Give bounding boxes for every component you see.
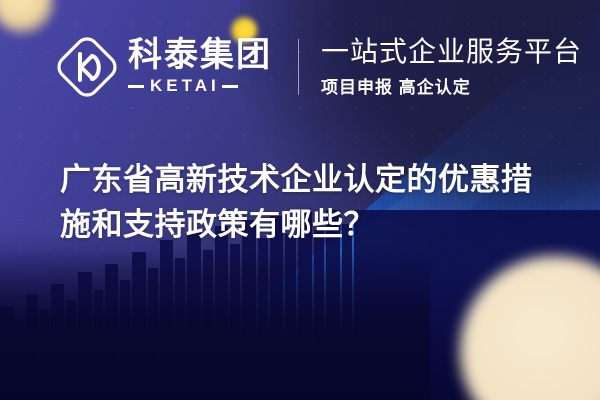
promo-banner: 科泰集团 KETAI 一站式企业服务平台 项目申报 高企认定 广东省高新技术企业… [0,0,600,400]
slogan-block: 一站式企业服务平台 项目申报 高企认定 [321,36,582,98]
brand-header: 科泰集团 KETAI 一站式企业服务平台 项目申报 高企认定 [56,36,582,98]
slogan-main: 一站式企业服务平台 [321,36,582,68]
vertical-divider [298,39,299,95]
bottom-left-dark-overlay [0,250,430,400]
logo-wordmark: 科泰集团 KETAI [128,38,272,97]
dash-right-icon [222,85,238,88]
logo-name-en: KETAI [150,76,220,96]
logo: 科泰集团 KETAI [56,36,272,98]
dash-left-icon [128,85,144,88]
ketai-diamond-monogram-icon [56,36,118,98]
page-title: 广东省高新技术企业认定的优惠措施和支持政策有哪些？ [60,158,550,248]
logo-name-cn: 科泰集团 [128,38,272,74]
slogan-sub: 项目申报 高企认定 [321,73,582,98]
logo-name-en-row: KETAI [128,76,272,96]
